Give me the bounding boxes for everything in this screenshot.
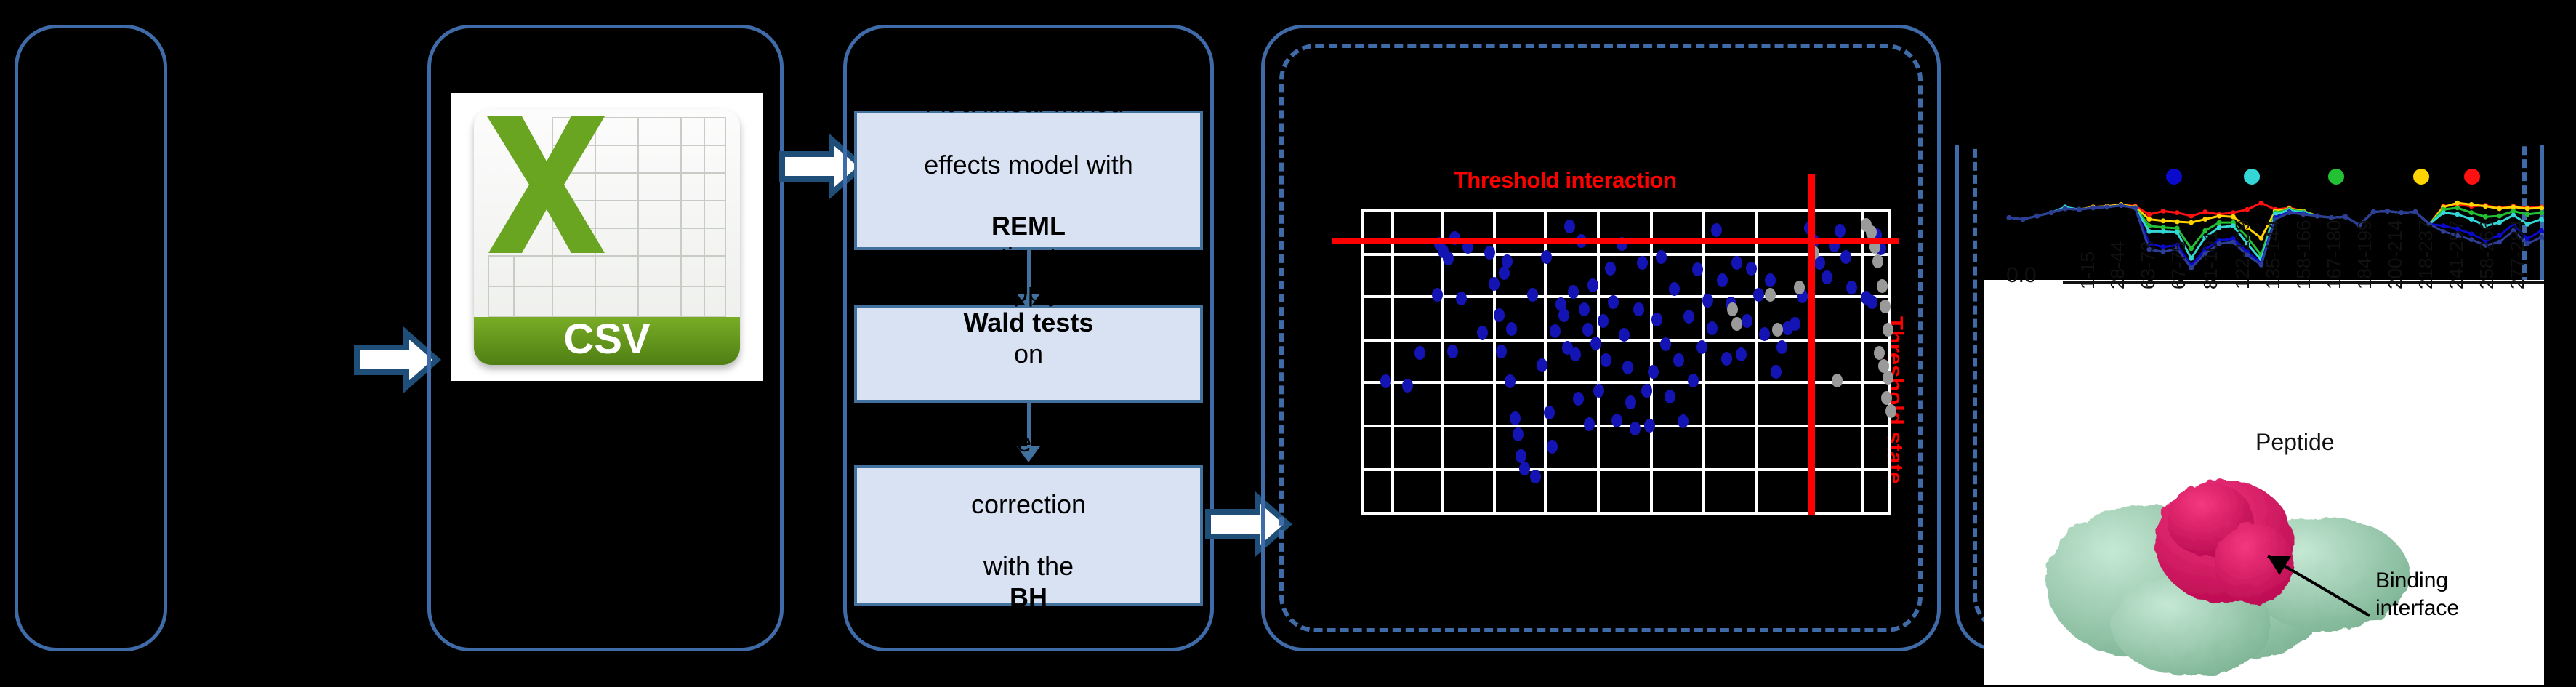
scatter-point [1688,374,1699,387]
scatter-point [1711,223,1722,237]
binding-interface-annotation: Binding interface [2375,567,2459,622]
scatter-point [1746,262,1757,276]
scatter-point [1494,308,1505,322]
step-wald-tests[interactable]: Apply Wald tests on the model parameters [854,305,1203,403]
peptide-series-point [2343,214,2348,220]
scatter-point [1656,250,1667,264]
step-wald-bold: Wald tests [964,308,1094,337]
scatter-point [1582,323,1593,337]
peptide-series-point [2539,210,2544,215]
scatter-point [1456,292,1467,305]
scatter-point [1731,317,1742,331]
scatter-point [1601,353,1611,367]
legend-dot-series-4 [2413,169,2429,185]
scatter-point [1605,262,1616,276]
scatter-point [1822,270,1832,284]
scatter-point [1622,361,1633,374]
scatter-point [1877,279,1888,293]
scatter-point [1570,347,1581,361]
scatter-point [1881,391,1892,405]
peptide-series-point [2048,210,2053,215]
scatter-point [1625,395,1636,409]
peptide-series-point [2063,206,2068,212]
peptide-series-point [2469,231,2474,236]
peptide-series-point [2202,217,2207,222]
peptide-series-point [2189,220,2194,225]
scatter-point [1867,295,1877,309]
legend-dot-series-2 [2244,169,2260,185]
peptide-series-point [2455,212,2460,217]
csv-file-icon: CSV [451,93,763,381]
peptide-series-point [2245,207,2250,212]
step-fit-model[interactable]: Fit a linear mixed- effects model with R… [854,111,1203,250]
scatter-point [1883,371,1893,385]
scatter-point [1579,302,1590,316]
scatter-point [1584,417,1595,431]
scatter-point [1432,288,1443,302]
peptide-series-point [2259,201,2264,206]
peptide-tick-label: 200-214 [2384,220,2407,289]
scatter-point [1872,254,1883,268]
scatter-point [1660,337,1671,351]
panel-empty-1 [15,25,167,651]
peptide-series-point [2077,207,2082,212]
scatter-point [1619,328,1630,342]
scatter-point [1846,281,1857,294]
peptide-series-point [2175,220,2180,225]
scatter-point [1880,300,1891,313]
peptide-tick-label: 184-199 [2354,220,2376,289]
scatter-point [1644,419,1655,433]
scatter-point [1794,281,1805,294]
scatter-point [1721,352,1732,366]
scatter-point [1692,262,1703,276]
peptide-tick-label: 258-266 [2476,220,2498,289]
scatter-point [1568,285,1579,299]
legend-dot-series-3 [2328,169,2344,185]
legend-dot-series-1 [2166,169,2182,185]
scatter-point [1832,374,1843,387]
peptide-series-point [2217,225,2222,230]
peptide-series-point [2161,244,2166,249]
scatter-point [1736,347,1747,361]
scatter-point [1883,323,1893,337]
peptide-series-point [2469,217,2474,222]
scatter-point [1835,224,1846,238]
scatter-plot-area [1361,209,1891,515]
peptide-series-point [2413,209,2418,214]
scatter-threshold-vertical-line [1808,174,1815,515]
peptide-tick-label: 67-75 [2168,241,2190,290]
peptide-series-point [2287,210,2292,215]
scatter-point [1651,313,1662,326]
scatter-point [1447,345,1458,358]
scatter-point [1547,440,1558,454]
peptide-tick-label: 218-237 [2415,220,2437,289]
scatter-point [1696,340,1707,354]
peptide-series-point [2469,210,2474,215]
scatter-point [1558,308,1569,322]
scatter-point [1573,392,1584,406]
peptide-tick-label: 158-166 [2293,220,2315,289]
scatter-point [1717,273,1728,287]
peptide-series-point [2511,213,2516,218]
step-bh-line-3a: with the [937,551,1120,582]
peptide-tick-label: 63-73 [2137,241,2160,290]
peptide-series-point [2525,206,2530,212]
scatter-point [1840,250,1851,264]
scatter-point [1776,340,1787,354]
scatter-point [1611,414,1622,427]
scatter-point [1527,288,1538,302]
peptide-series-point [2301,212,2306,217]
scatter-point [1519,462,1530,475]
peptide-series-point [2146,212,2152,217]
scatter-point [1593,384,1604,398]
step-bh-line-1: Multiple testing [937,427,1120,458]
peptide-series-point [2497,206,2502,212]
scatter-point [1772,323,1783,337]
scatter-point [1707,321,1718,335]
scatter-point [1669,282,1680,296]
scatter-point [1678,414,1689,428]
scatter-point [1608,295,1619,309]
peptide-series-point [2133,206,2138,211]
peptide-series-point [2189,214,2194,219]
peptide-tick-label: 241-257 [2445,220,2468,289]
peptide-tick-label: 28-44 [2106,241,2129,290]
peptide-series-point [2539,217,2544,222]
scatter-point [1637,256,1648,270]
step-bh-line-3b: procedure [937,613,1120,643]
peptide-series-point [2315,214,2320,219]
peptide-series-point [2217,214,2222,219]
scatter-point [1550,324,1561,338]
peptide-tick-label: 277-284 [2506,220,2529,289]
scatter-point [1771,365,1782,379]
scatter-point [1505,374,1516,388]
scatter-point [1727,302,1738,316]
scatter-point [1506,322,1517,336]
step-wald-line-1b: on [897,339,1160,369]
step-bh-correction[interactable]: Multiple testing correction with the BH … [854,465,1203,606]
peptide-series-point [2483,214,2488,220]
peptide-axis-label: Peptide [2255,429,2335,456]
scatter-point [1587,278,1598,292]
peptide-series-point [2146,229,2152,234]
scatter-point [1665,390,1675,403]
step-fit-model-line-2: effects model with [919,150,1137,180]
peptide-y-tick-0: 0.0 [2006,263,2037,288]
crop-mask-peptide-top [1955,0,2576,145]
scatter-point [1502,254,1513,268]
peptide-tick-label: 81-101 [2199,230,2222,289]
scatter-point [1673,353,1684,367]
peptide-series-point [2539,228,2544,233]
scatter-point [1544,406,1555,419]
scatter-point [1510,411,1521,425]
step-wald-line-1a: Apply [897,277,1160,308]
peptide-series-point [2217,220,2222,225]
scatter-point [1598,314,1609,328]
csv-icon-label: CSV [563,316,651,363]
step-bh-bold: BH [1010,582,1047,612]
peptide-series-point [2455,206,2460,211]
scatter-point [1648,365,1659,379]
scatter-point [1513,427,1524,441]
scatter-point [1402,379,1413,393]
scatter-point [1477,326,1488,340]
scatter-point [1765,273,1776,287]
legend-dot-series-5 [2464,169,2480,185]
step-fit-model-reml: REML [991,211,1066,241]
peptide-series-point [2539,235,2544,240]
scatter-point [1874,346,1885,360]
scatter-point [1443,252,1454,265]
peptide-series-point [2119,203,2124,208]
peptide-series-point [2385,209,2390,214]
scatter-point [1496,345,1507,358]
scatter-point [1630,422,1641,435]
peptide-series-point [2455,201,2460,206]
peptide-series-point [2399,210,2404,215]
scatter-point [1683,310,1694,324]
scatter-point [1564,220,1575,233]
binding-interface-line-1: Binding [2375,567,2459,595]
scatter-point [1702,294,1713,308]
scatter-point [1765,288,1776,302]
scatter-point [1742,314,1752,328]
peptide-tick-label: 167-180 [2323,220,2346,289]
scatter-point [1380,374,1391,388]
peptide-series-point [2161,249,2166,254]
peptide-series-point [2539,206,2544,211]
peptide-series-point [2231,214,2236,220]
peptide-series-point [2161,209,2166,214]
peptide-tick-label: 135-144 [2262,220,2285,289]
scatter-point [1530,470,1541,483]
peptide-series-point [2441,210,2446,215]
peptide-series-point [2469,202,2474,207]
peptide-series-point [2161,229,2166,234]
scatter-point [1414,346,1425,360]
peptide-series-point [2469,237,2474,242]
peptide-tick-label: 122-129 [2231,220,2254,289]
step-bh-line-2: correction [937,489,1120,520]
scatter-point [1753,288,1764,302]
scatter-point [1731,256,1742,270]
peptide-series-point [2202,209,2207,214]
peptide-series-point [2483,204,2488,209]
scatter-point [1790,317,1800,331]
step-fit-model-line-1: Fit a linear mixed- [919,88,1137,118]
peptide-series-point [2021,217,2026,222]
binding-interface-line-2: interface [2375,595,2459,622]
scatter-point [1484,246,1495,260]
peptide-series-point [2007,215,2012,220]
scatter-point [1537,358,1547,372]
protein-structure-image [2006,454,2471,676]
scatter-threshold-interaction-label: Threshold interaction [1454,167,1676,193]
peptide-series-point [2371,209,2376,214]
peptide-series-point [2175,230,2180,235]
peptide-series-point [2525,212,2530,217]
scatter-point [1885,404,1896,418]
scatter-point [1489,277,1500,291]
peptide-series-point [2146,217,2152,222]
peptide-tick-label: 1-15 [2077,252,2099,289]
scatter-point [1633,302,1644,316]
peptide-series-point [2175,210,2180,215]
scatter-point [1541,250,1552,264]
peptide-series-point [2105,204,2110,209]
scatter-point [1641,384,1652,398]
scatter-point [1759,327,1770,341]
peptide-series-point [2034,214,2040,219]
peptide-series-point [2090,206,2096,211]
scatter-point [1590,337,1601,350]
peptide-series-point [2161,218,2166,223]
peptide-series-point [2497,214,2502,219]
